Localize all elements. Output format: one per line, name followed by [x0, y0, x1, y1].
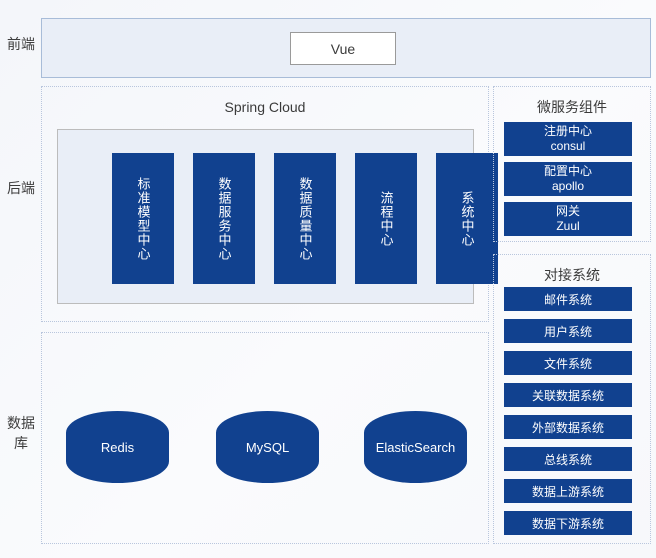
node-module-data-quality-center[interactable]: 数据质量中心: [274, 153, 336, 284]
integration-systems-title: 对接系统: [494, 265, 650, 285]
node-registry-center[interactable]: 注册中心 consul: [504, 122, 632, 156]
node-integration-bus-system[interactable]: 总线系统: [504, 447, 632, 471]
module-label: 数据质量中心: [297, 177, 314, 261]
ms-item-name: 网关: [556, 204, 580, 219]
node-integration-mail-system[interactable]: 邮件系统: [504, 287, 632, 311]
node-module-process-center[interactable]: 流程中心: [355, 153, 417, 284]
node-integration-user-system[interactable]: 用户系统: [504, 319, 632, 343]
ms-item-name: 配置中心: [544, 164, 592, 179]
database-label: ElasticSearch: [376, 440, 455, 455]
tier-label-database: 数据库: [4, 413, 38, 453]
node-integration-file-system[interactable]: 文件系统: [504, 351, 632, 375]
tier-label-backend: 后端: [4, 178, 38, 198]
frontend-panel: Vue: [41, 18, 651, 78]
module-label: 系统中心: [459, 191, 476, 247]
node-gateway[interactable]: 网关 Zuul: [504, 202, 632, 236]
database-panel: Redis MySQL ElasticSearch: [41, 332, 489, 544]
node-integration-downstream-data-system[interactable]: 数据下游系统: [504, 511, 632, 535]
microservice-components-title: 微服务组件: [494, 97, 650, 117]
node-config-center[interactable]: 配置中心 apollo: [504, 162, 632, 196]
node-integration-upstream-data-system[interactable]: 数据上游系统: [504, 479, 632, 503]
microservice-components-panel: 微服务组件 注册中心 consul 配置中心 apollo 网关 Zuul: [493, 86, 651, 242]
node-module-standard-model-center[interactable]: 标准模型中心: [112, 153, 174, 284]
node-database-redis[interactable]: Redis: [66, 411, 169, 483]
integration-systems-panel: 对接系统 邮件系统 用户系统 文件系统 关联数据系统 外部数据系统 总线系统 数…: [493, 254, 651, 544]
tier-label-frontend: 前端: [4, 34, 38, 54]
ms-item-impl: Zuul: [556, 219, 579, 234]
architecture-diagram: 前端 后端 数据库 Vue Spring Cloud 标准模型中心 数据服务中心…: [0, 0, 656, 558]
database-label: MySQL: [246, 440, 289, 455]
node-database-mysql[interactable]: MySQL: [216, 411, 319, 483]
database-label: Redis: [101, 440, 134, 455]
spring-cloud-title: Spring Cloud: [42, 99, 488, 115]
node-integration-external-data-system[interactable]: 外部数据系统: [504, 415, 632, 439]
ms-item-impl: consul: [551, 139, 586, 154]
ms-item-name: 注册中心: [544, 124, 592, 139]
module-label: 数据服务中心: [216, 177, 233, 261]
node-database-elasticsearch[interactable]: ElasticSearch: [364, 411, 467, 483]
node-module-data-service-center[interactable]: 数据服务中心: [193, 153, 255, 284]
module-label: 流程中心: [378, 191, 395, 247]
module-label: 标准模型中心: [135, 177, 152, 261]
spring-cloud-panel: Spring Cloud 标准模型中心 数据服务中心 数据质量中心 流程中心 系…: [41, 86, 489, 322]
node-vue[interactable]: Vue: [290, 32, 396, 65]
node-module-system-center[interactable]: 系统中心: [436, 153, 498, 284]
node-integration-related-data-system[interactable]: 关联数据系统: [504, 383, 632, 407]
ms-item-impl: apollo: [552, 179, 584, 194]
